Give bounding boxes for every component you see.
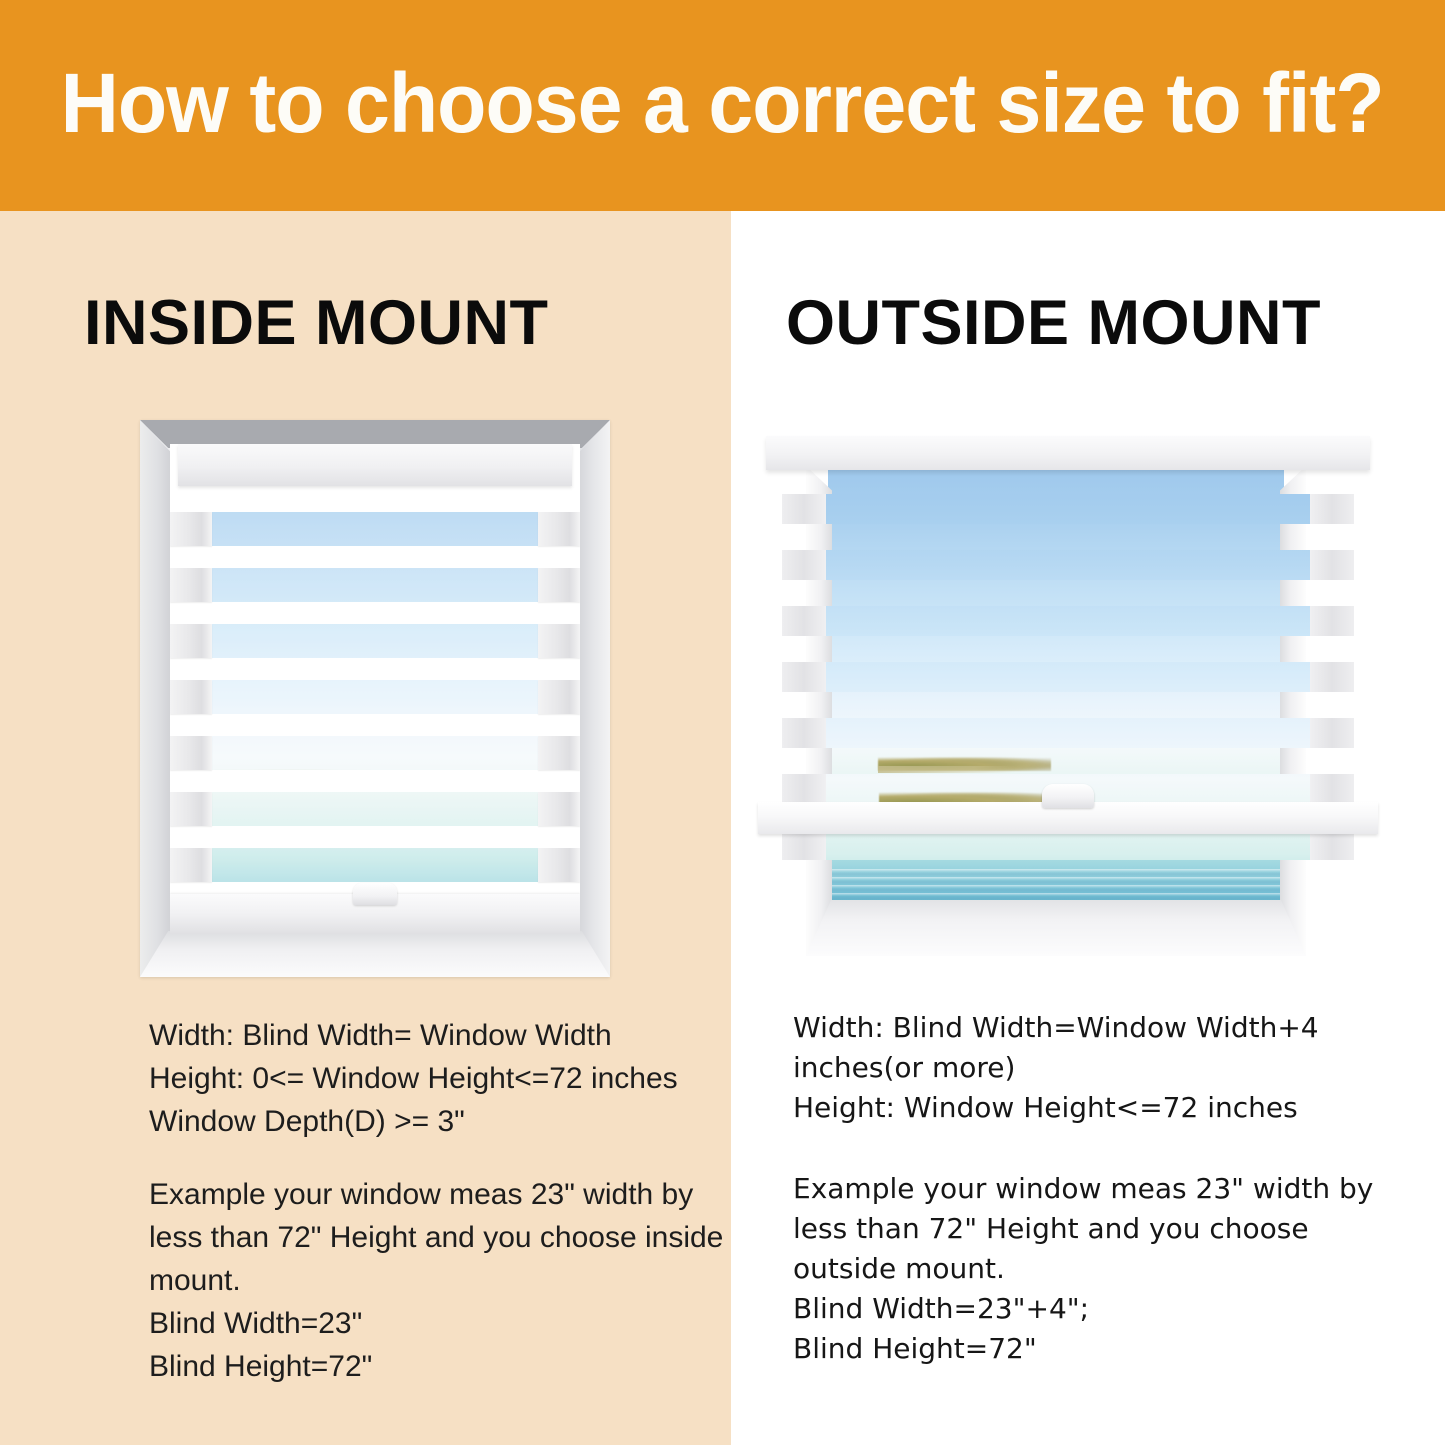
blind-pull-handle[interactable] — [1042, 784, 1094, 808]
window-sill — [140, 931, 610, 977]
window-frame-left — [806, 466, 832, 956]
spec-line: Height: 0<= Window Height<=72 inches — [149, 1057, 678, 1100]
window-opening — [170, 444, 580, 934]
blind-bottom-rail — [170, 894, 580, 934]
blind-slat — [782, 718, 1354, 748]
example-line: Example your window meas 23" width by — [793, 1169, 1373, 1209]
example-line: Blind Width=23"+4"; — [793, 1289, 1373, 1329]
inside-mount-panel: INSIDE MOUNT — [0, 211, 731, 1445]
inside-mount-example: Example your window meas 23" width by le… — [149, 1173, 723, 1388]
blind-headrail — [766, 436, 1370, 470]
window-reveal-left — [140, 420, 172, 977]
example-line: Blind Height=72" — [149, 1345, 723, 1388]
blind-bottom-rail — [758, 802, 1378, 834]
spec-line: inches(or more) — [793, 1048, 1319, 1088]
example-line: less than 72" Height and you choose — [793, 1209, 1373, 1249]
window-reveal-right — [578, 420, 610, 977]
spec-line: Width: Blind Width= Window Width — [149, 1014, 678, 1057]
blind-slat — [782, 550, 1354, 580]
header-banner: How to choose a correct size to fit? — [0, 0, 1445, 211]
blind-pull-handle[interactable] — [353, 883, 397, 905]
outside-mount-panel: OUTSIDE MOUNT — [731, 211, 1445, 1445]
outside-mount-heading: OUTSIDE MOUNT — [786, 287, 1321, 359]
page-title: How to choose a correct size to fit? — [61, 61, 1384, 145]
window-sill — [806, 900, 1306, 956]
spec-line: Height: Window Height<=72 inches — [793, 1088, 1319, 1128]
example-line: less than 72" Height and you choose insi… — [149, 1216, 723, 1259]
example-line: outside mount. — [793, 1249, 1373, 1289]
spec-line: Width: Blind Width=Window Width+4 — [793, 1008, 1319, 1048]
example-line: mount. — [149, 1259, 723, 1302]
inside-mount-specs: Width: Blind Width= Window Width Height:… — [149, 1014, 678, 1143]
outside-mount-specs: Width: Blind Width=Window Width+4 inches… — [793, 1008, 1319, 1128]
blind-headrail — [178, 444, 572, 486]
blind-slat — [782, 494, 1354, 524]
content-area: INSIDE MOUNT — [0, 211, 1445, 1445]
example-line: Blind Width=23" — [149, 1302, 723, 1345]
infographic-page: How to choose a correct size to fit? INS… — [0, 0, 1445, 1445]
blind-slat — [782, 830, 1354, 860]
window-frame-right — [1280, 466, 1306, 956]
inside-mount-window-diagram — [140, 420, 610, 977]
spec-line: Window Depth(D) >= 3" — [149, 1100, 678, 1143]
blind-slat — [782, 606, 1354, 636]
window-opening — [806, 466, 1306, 956]
zebra-blind-fabric — [170, 444, 580, 934]
outside-mount-example: Example your window meas 23" width by le… — [793, 1169, 1373, 1369]
blind-slat — [782, 662, 1354, 692]
example-line: Blind Height=72" — [793, 1329, 1373, 1369]
inside-mount-heading: INSIDE MOUNT — [84, 287, 549, 359]
example-line: Example your window meas 23" width by — [149, 1173, 723, 1216]
outside-mount-window-diagram — [758, 420, 1378, 977]
